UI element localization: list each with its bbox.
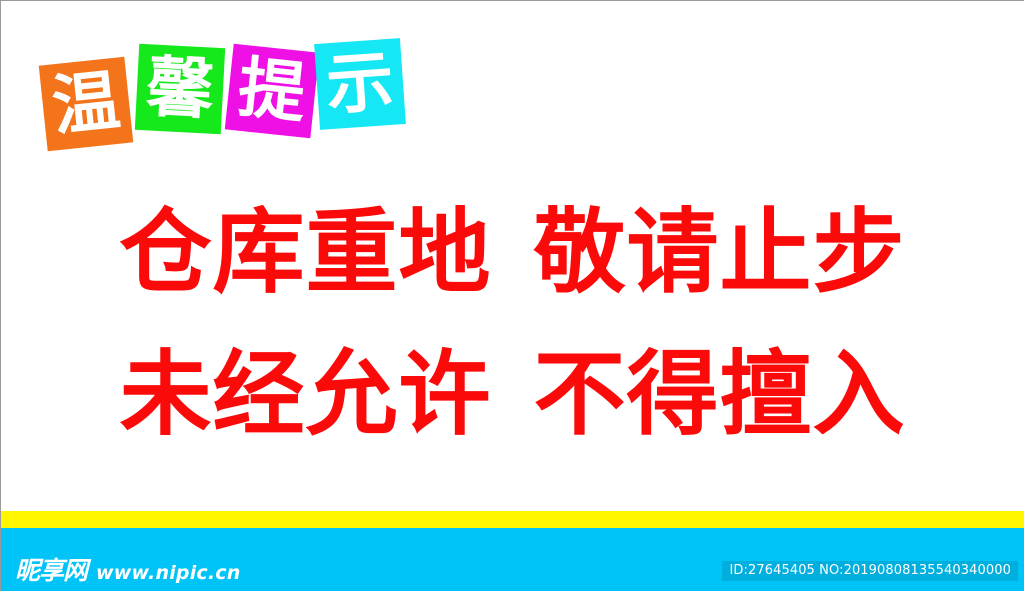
heading-badge-glyph: 提	[235, 55, 309, 128]
message-line-2-left: 未经允许	[119, 349, 491, 441]
heading-badge-glyph: 温	[49, 68, 123, 141]
message-line-2-right: 不得擅入	[534, 349, 906, 441]
heading-badge-xin: 馨	[135, 44, 225, 134]
message-line-2: 未经允许不得擅入	[1, 349, 1024, 441]
heading-badge-glyph: 馨	[145, 54, 216, 123]
heading-badge-wen: 温	[39, 57, 134, 152]
heading-badge-ti: 提	[225, 44, 320, 139]
message-line-1: 仓库重地敬请止步	[1, 207, 1024, 299]
message-line-1-left: 仓库重地	[119, 207, 491, 299]
watermark-url-text: www.nipic.cn	[96, 564, 240, 583]
heading-badge-glyph: 示	[324, 49, 396, 120]
watermark: 昵享网 www.nipic.cn	[15, 558, 241, 583]
heading-badge-row: 温 馨 提 示	[39, 37, 419, 162]
message-line-1-right: 敬请止步	[534, 207, 906, 299]
yellow-band	[1, 511, 1024, 528]
watermark-logo-text: 昵享网	[15, 558, 87, 583]
asset-id-badge: ID:27645405 NO:20190808135540340000	[722, 561, 1018, 581]
heading-badge-shi: 示	[314, 38, 406, 130]
poster-canvas: 温 馨 提 示 仓库重地敬请止步 未经允许不得擅入 昵享网 www.nipic.…	[0, 0, 1024, 591]
